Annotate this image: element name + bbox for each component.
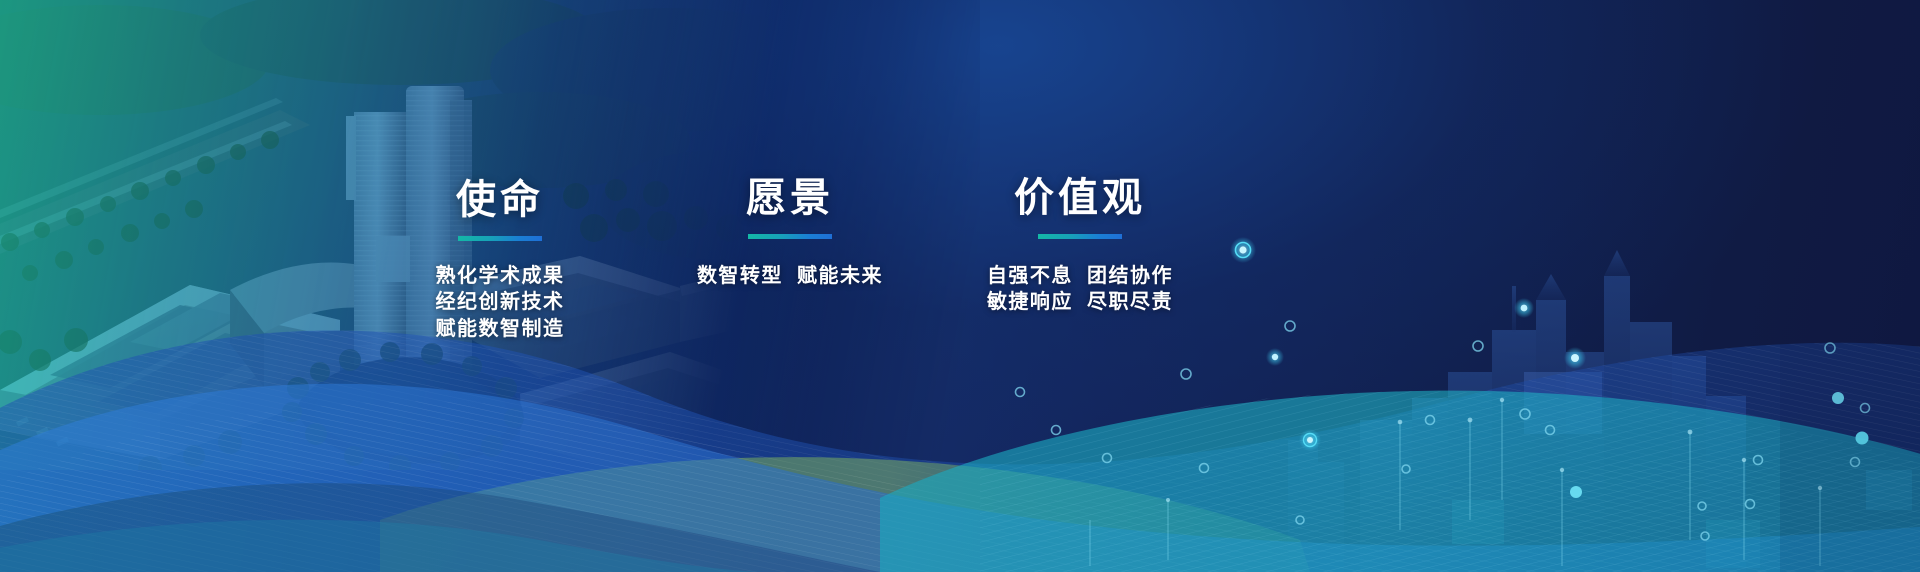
mission-title: 使命 [370, 180, 630, 220]
column-mission: 使命 熟化学术成果 经纪创新技术 赋能数智制造 [370, 180, 630, 342]
vision-lines: 数智转型 赋能未来 [660, 263, 920, 289]
vision-mission-values-banner: 使命 熟化学术成果 经纪创新技术 赋能数智制造 愿景 数智转型 赋能未来 价值观… [0, 0, 1920, 572]
vision-title: 愿景 [660, 178, 920, 218]
mission-lines: 熟化学术成果 经纪创新技术 赋能数智制造 [370, 263, 630, 342]
values-lines: 自强不息 团结协作 敏捷响应 尽职尽责 [950, 263, 1210, 316]
vision-underline-rule [748, 234, 832, 239]
values-line-2: 敏捷响应 尽职尽责 [950, 289, 1210, 315]
values-line-1: 自强不息 团结协作 [950, 263, 1210, 289]
mission-underline-rule [458, 236, 542, 241]
mission-line-3: 赋能数智制造 [370, 316, 630, 342]
values-title: 价值观 [950, 178, 1210, 218]
column-values: 价值观 自强不息 团结协作 敏捷响应 尽职尽责 [950, 178, 1210, 316]
vision-line-1: 数智转型 赋能未来 [660, 263, 920, 289]
column-vision: 愿景 数智转型 赋能未来 [660, 178, 920, 289]
mission-line-2: 经纪创新技术 [370, 289, 630, 315]
values-underline-rule [1038, 234, 1122, 239]
banner-content: 使命 熟化学术成果 经纪创新技术 赋能数智制造 愿景 数智转型 赋能未来 价值观… [0, 0, 1920, 572]
mission-line-1: 熟化学术成果 [370, 263, 630, 289]
